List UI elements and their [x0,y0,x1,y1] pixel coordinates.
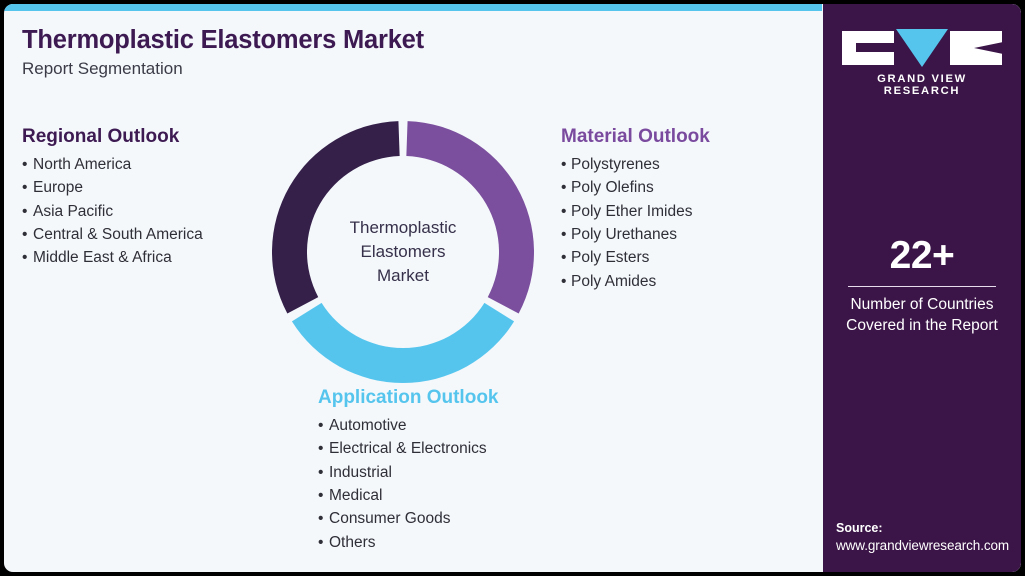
stat-caption-line-2: Covered in the Report [823,315,1021,336]
page-title: Thermoplastic Elastomers Market [22,26,722,55]
application-outlook-block: Application Outlook •Automotive •Electri… [318,387,499,554]
list-item: •Poly Olefins [561,176,710,199]
list-item-label: Europe [33,179,83,196]
infographic-root: Thermoplastic Elastomers Market Report S… [0,0,1025,576]
list-item-label: Poly Urethanes [571,226,677,243]
bullet-icon: • [561,270,571,293]
list-item: •Automotive [318,414,499,437]
list-item: •Central & South America [22,223,203,246]
regional-outlook-title: Regional Outlook [22,126,203,148]
regional-outlook-block: Regional Outlook •North America •Europe … [22,126,203,270]
bullet-icon: • [561,200,571,223]
list-item: •Poly Urethanes [561,223,710,246]
main-card: Thermoplastic Elastomers Market Report S… [4,4,1021,572]
list-item-label: Polystyrenes [571,156,660,173]
brand-logo: GRAND VIEW RESEARCH [842,31,1002,97]
bullet-icon: • [318,414,329,437]
list-item: •Electrical & Electronics [318,437,499,460]
source-block: Source: www.grandviewresearch.com [836,520,1021,555]
list-item: •Poly Esters [561,246,710,269]
bullet-icon: • [22,246,33,269]
donut-segment-regional-outlook[interactable] [272,121,400,313]
list-item-label: Central & South America [33,226,203,243]
material-outlook-title: Material Outlook [561,126,710,148]
donut-chart-svg [270,119,536,385]
logo-g-icon [842,31,894,65]
donut-segment-application-outlook[interactable] [292,303,514,383]
stat-block: 22+ Number of Countries Covered in the R… [823,236,1021,336]
donut-segment-group [272,121,534,383]
list-item-label: Medical [329,487,382,504]
bullet-icon: • [22,153,33,176]
bullet-icon: • [561,223,571,246]
list-item: •Others [318,531,499,554]
list-item: •Medical [318,484,499,507]
bullet-icon: • [561,246,571,269]
donut-segment-material-outlook[interactable] [406,121,534,313]
list-item: •Consumer Goods [318,507,499,530]
list-item-label: Automotive [329,417,407,434]
application-outlook-title: Application Outlook [318,387,499,409]
donut-chart: Thermoplastic Elastomers Market [270,119,536,385]
list-item-label: North America [33,156,131,173]
list-item-label: Industrial [329,464,392,481]
list-item-label: Asia Pacific [33,203,113,220]
list-item-label: Electrical & Electronics [329,440,487,457]
bullet-icon: • [22,200,33,223]
material-outlook-block: Material Outlook •Polystyrenes •Poly Ole… [561,126,710,293]
list-item: •Middle East & Africa [22,246,203,269]
source-label: Source: [836,520,1021,537]
list-item-label: Others [329,534,376,551]
list-item: •North America [22,153,203,176]
list-item-label: Poly Ether Imides [571,203,692,220]
stat-caption-line-1: Number of Countries [823,294,1021,315]
bullet-icon: • [318,437,329,460]
list-item-label: Consumer Goods [329,510,450,527]
stat-divider [848,286,996,288]
logo-r-icon [950,31,1002,65]
list-item-label: Poly Esters [571,249,649,266]
bullet-icon: • [318,484,329,507]
header: Thermoplastic Elastomers Market Report S… [22,26,722,80]
bullet-icon: • [22,176,33,199]
list-item-label: Poly Amides [571,273,656,290]
regional-outlook-list: •North America •Europe •Asia Pacific •Ce… [22,153,203,270]
bullet-icon: • [318,461,329,484]
list-item: •Europe [22,176,203,199]
list-item: •Polystyrenes [561,153,710,176]
material-outlook-list: •Polystyrenes •Poly Olefins •Poly Ether … [561,153,710,293]
logo-wordmark: GRAND VIEW RESEARCH [842,73,1002,97]
bullet-icon: • [561,153,571,176]
side-panel: GRAND VIEW RESEARCH 22+ Number of Countr… [823,4,1021,572]
application-outlook-list: •Automotive •Electrical & Electronics •I… [318,414,499,554]
source-url[interactable]: www.grandviewresearch.com [836,537,1021,555]
stat-value: 22+ [823,236,1021,277]
bullet-icon: • [561,176,571,199]
bullet-icon: • [318,531,329,554]
bullet-icon: • [22,223,33,246]
list-item: •Poly Amides [561,270,710,293]
bullet-icon: • [318,507,329,530]
list-item: •Industrial [318,461,499,484]
logo-v-triangle-icon [896,29,948,67]
list-item-label: Middle East & Africa [33,249,172,266]
page-subtitle: Report Segmentation [22,59,722,79]
list-item: •Asia Pacific [22,200,203,223]
logo-marks [842,31,1002,65]
list-item: •Poly Ether Imides [561,200,710,223]
top-accent-bar [4,4,822,11]
list-item-label: Poly Olefins [571,179,654,196]
